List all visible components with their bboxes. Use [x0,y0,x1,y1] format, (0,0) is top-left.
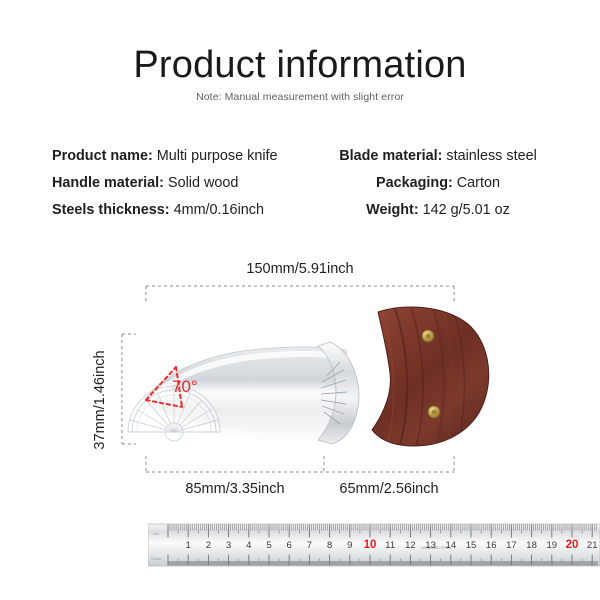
dimension-total-length-line [146,286,454,302]
spec-value: Carton [457,175,500,191]
ruler-number-12: 12 [405,540,416,551]
knife-dimension-diagram: 150mm/5.91inch 37mm/1.46inch [0,250,600,520]
spec-product-name: Product name: Multi purpose knife [52,148,324,164]
spec-label: Handle material: [52,175,164,191]
spec-value: Solid wood [168,175,238,191]
spec-label: Product name: [52,148,153,164]
ruler-number-13: 13 [425,540,436,551]
spec-weight: Weight: 142 g/5.01 oz [324,202,552,218]
dimension-height-label: 37mm/1.46inch [92,350,108,449]
knife-handle [372,307,489,446]
ruler-number-2: 2 [206,540,211,551]
spec-handle-material: Handle material: Solid wood [52,175,324,191]
ruler-number-5: 5 [266,540,271,551]
ruler-number-4: 4 [246,540,251,551]
ruler-number-16: 16 [486,540,497,551]
spec-value: 4mm/0.16inch [174,202,264,218]
ruler-number-17: 17 [506,540,517,551]
spec-label: Blade material: [339,148,442,164]
spec-value: stainless steel [446,148,536,164]
angle-label: 70° [172,377,198,396]
ruler-number-9: 9 [347,540,352,551]
page-title: Product information [0,46,600,84]
ruler-number-21: 21 [587,540,598,551]
spec-blade-material: Blade material: stainless steel [324,148,552,164]
spec-label: Steels thickness: [52,202,170,218]
ruler-number-3: 3 [226,540,231,551]
ruler-number-8: 8 [327,540,332,551]
spec-value: 142 g/5.01 oz [423,202,510,218]
ruler-number-7: 7 [307,540,312,551]
handle-rivet-bottom [428,406,440,418]
ruler-number-15: 15 [466,540,477,551]
ruler-number-20: 20 [566,539,579,551]
dimension-blade-length-label: 85mm/3.35inch [185,481,284,497]
dimension-total-length-label: 150mm/5.91inch [246,261,353,277]
ruler-number-labels: 123456789101112131415161718192021 [186,539,598,551]
handle-rivet-top [422,330,434,342]
dimension-handle-length-label: 65mm/2.56inch [339,481,438,497]
ruler-number-6: 6 [287,540,292,551]
ruler-number-11: 11 [385,540,395,551]
reference-ruler: mm 1/2mm HARDENED STEEL 1234567891011121… [148,522,600,568]
ruler-number-19: 19 [547,540,558,551]
ruler-number-18: 18 [526,540,537,551]
spec-value: Multi purpose knife [157,148,278,164]
ruler-number-10: 10 [364,539,377,551]
spec-label: Weight: [366,202,419,218]
spec-packaging: Packaging: Carton [324,175,552,191]
measurement-note: Note: Manual measurement with slight err… [0,91,600,103]
dimension-segments-line [146,456,454,472]
ruler-unit-half-mm: 1/2mm [151,557,162,561]
spec-steels-thickness: Steels thickness: 4mm/0.16inch [52,202,324,218]
spec-label: Packaging: [376,175,453,191]
ruler-number-14: 14 [446,540,457,551]
knife-illustration: 70° [128,304,489,448]
ruler-number-1: 1 [186,540,191,551]
ruler-unit-mm: mm [153,532,159,536]
product-spec-table: Product name: Multi purpose knife Blade … [52,148,552,218]
